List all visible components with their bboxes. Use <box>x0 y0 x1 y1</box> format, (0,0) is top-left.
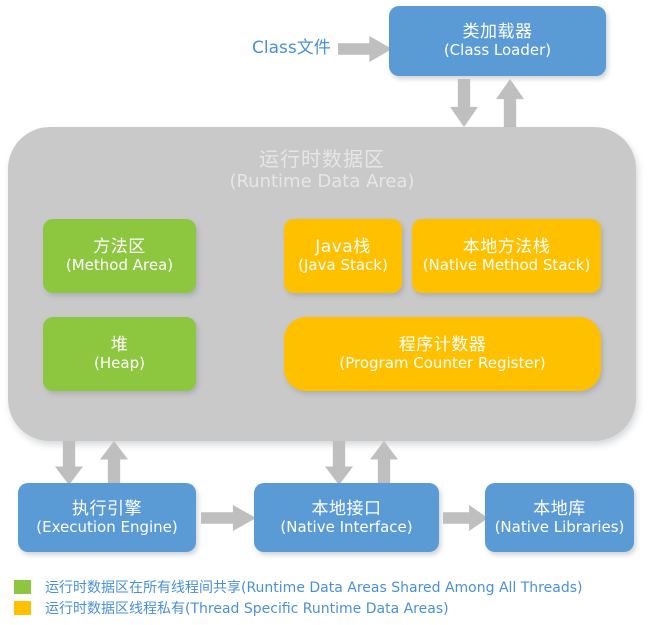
node-heap-en: (Heap) <box>94 355 145 373</box>
node-class-loader-cn: 类加载器 <box>463 22 533 42</box>
node-method-area-en: (Method Area) <box>66 257 173 275</box>
jvm-architecture-diagram: Class文件 类加载器 (Class Loader) 运行时数据区 (Runt… <box>0 0 652 625</box>
legend-row-shared: 运行时数据区在所有线程间共享(Runtime Data Areas Shared… <box>14 576 644 597</box>
runtime-data-area-container: 运行时数据区 (Runtime Data Area) 方法区 (Method A… <box>8 127 636 441</box>
node-native-libraries-cn: 本地库 <box>533 499 586 519</box>
arrow-classloader-to-runtime <box>450 79 478 127</box>
node-execution-engine-cn: 执行引擎 <box>72 499 142 519</box>
node-native-interface[interactable]: 本地接口 (Native Interface) <box>254 483 439 552</box>
node-program-counter-register-en: (Program Counter Register) <box>339 355 545 373</box>
legend-row-private: 运行时数据区线程私有(Thread Specific Runtime Data … <box>14 597 644 618</box>
runtime-data-area-title: 运行时数据区 (Runtime Data Area) <box>8 147 636 193</box>
node-method-area[interactable]: 方法区 (Method Area) <box>43 219 196 293</box>
node-program-counter-register-cn: 程序计数器 <box>399 335 487 355</box>
node-java-stack-en: (Java Stack) <box>298 257 388 275</box>
arrow-native-interface-to-native-libraries <box>443 505 488 531</box>
node-class-loader[interactable]: 类加载器 (Class Loader) <box>389 6 606 76</box>
legend-swatch-shared <box>14 580 31 594</box>
arrow-native-interface-to-runtime <box>370 441 398 485</box>
node-native-libraries-en: (Native Libraries) <box>495 519 625 537</box>
arrow-runtime-to-classloader <box>496 79 524 127</box>
node-program-counter-register[interactable]: 程序计数器 (Program Counter Register) <box>284 317 601 391</box>
runtime-data-area-title-en: (Runtime Data Area) <box>8 171 636 193</box>
arrow-runtime-to-execution-engine <box>55 441 83 485</box>
node-heap-cn: 堆 <box>111 335 129 355</box>
class-file-label: Class文件 <box>252 33 331 58</box>
arrow-execution-engine-to-native-interface <box>201 505 256 531</box>
runtime-data-area-title-cn: 运行时数据区 <box>8 147 636 171</box>
node-execution-engine-en: (Execution Engine) <box>36 519 178 537</box>
node-java-stack-cn: Java栈 <box>315 237 370 257</box>
node-execution-engine[interactable]: 执行引擎 (Execution Engine) <box>18 483 196 552</box>
node-native-method-stack-en: (Native Method Stack) <box>423 257 591 275</box>
legend-label-shared: 运行时数据区在所有线程间共享(Runtime Data Areas Shared… <box>45 577 582 597</box>
arrow-classfile-to-classloader <box>338 36 392 62</box>
node-heap[interactable]: 堆 (Heap) <box>43 317 196 391</box>
legend-label-private: 运行时数据区线程私有(Thread Specific Runtime Data … <box>45 598 449 618</box>
arrow-runtime-to-native-interface <box>325 441 353 485</box>
node-native-interface-en: (Native Interface) <box>280 519 412 537</box>
node-native-method-stack[interactable]: 本地方法栈 (Native Method Stack) <box>412 219 601 293</box>
node-native-method-stack-cn: 本地方法栈 <box>463 237 551 257</box>
node-native-interface-cn: 本地接口 <box>312 499 382 519</box>
node-method-area-cn: 方法区 <box>93 237 146 257</box>
legend-swatch-private <box>14 601 31 615</box>
node-native-libraries[interactable]: 本地库 (Native Libraries) <box>485 483 634 552</box>
node-class-loader-en: (Class Loader) <box>444 42 551 60</box>
arrow-execution-engine-to-runtime <box>100 441 128 485</box>
node-java-stack[interactable]: Java栈 (Java Stack) <box>284 219 402 293</box>
legend: 运行时数据区在所有线程间共享(Runtime Data Areas Shared… <box>14 576 644 618</box>
